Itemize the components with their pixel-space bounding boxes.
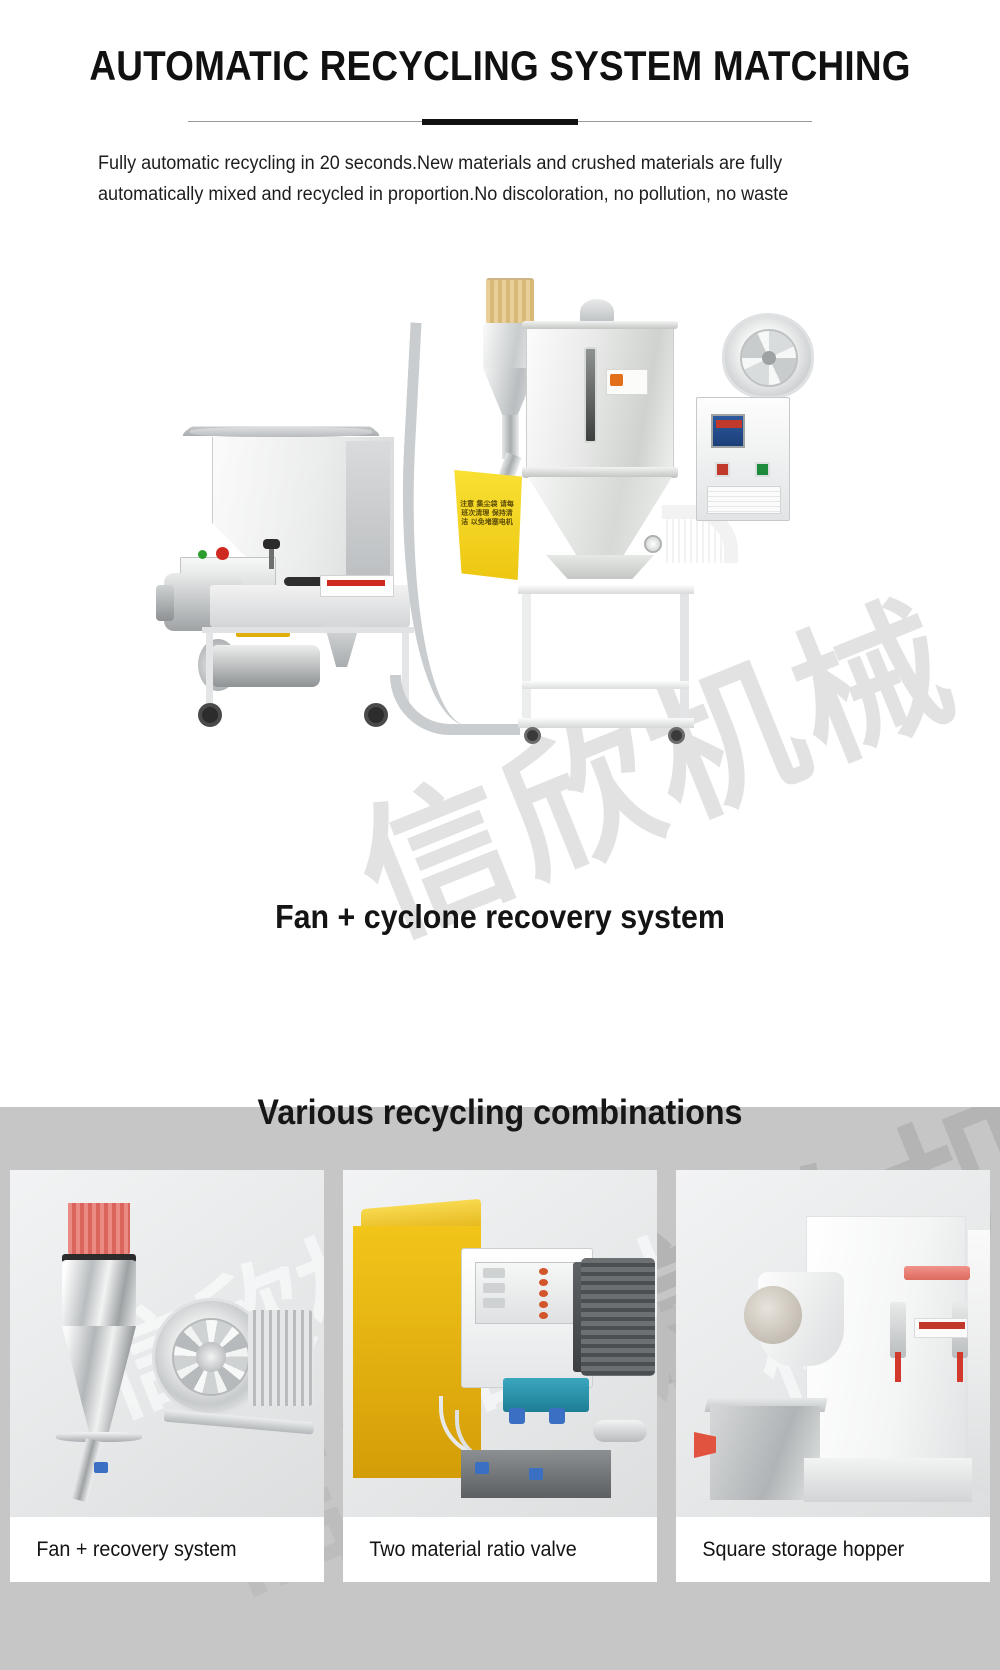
card-ratio-valve-caption: Two material ratio valve [343,1517,638,1582]
panel-red-button-icon [715,462,730,477]
valve-drive-motor [581,1258,655,1376]
led-icon [539,1312,548,1319]
key-icon [483,1298,505,1308]
green-start-button-icon [198,550,207,559]
hopper-machine-base [804,1458,972,1502]
hopper-red-handle [904,1266,970,1280]
dust-bag-warning-text: 注意 集尘袋 请每班次清理 保持清洁 以免堵塞电机 [458,500,516,527]
card-fan-recovery[interactable]: 信欣机械 Fan + recovery system [10,1170,324,1582]
title-divider [188,118,812,125]
combination-card-grid: 信欣机械 Fan + recovery system 信欣机械 [10,1170,990,1582]
crusher-stand-leg-left [206,633,213,705]
dryer-sight-glass [584,347,597,443]
hopper-end-disc [744,1286,802,1344]
cart-leg-right [680,594,689,722]
crusher-knob-icon [263,539,280,549]
blue-fitting-icon [475,1462,489,1474]
product-detail-page: AUTOMATIC RECYCLING SYSTEM MATCHING Full… [0,0,1000,1670]
card-fan-recovery-photo: 信欣机械 [10,1170,324,1517]
cart-leg-left [522,594,531,722]
blue-fitting-icon [529,1468,543,1480]
cart-mid-rail [522,681,689,689]
blue-fitting-icon [94,1462,108,1473]
hero-subtitle: Fully automatic recycling in 20 seconds.… [98,148,868,210]
card-ratio-valve[interactable]: 信欣机械 [343,1170,657,1582]
cart-bottom-rail [518,718,694,728]
crusher-rear-panel [346,441,390,581]
ring-blower-hub [196,1342,226,1372]
led-icon [539,1290,548,1297]
ring-blower-base [164,1409,314,1434]
hero-caption: Fan + cyclone recovery system [40,898,960,936]
hero-product-photo: 信欣机械 [150,255,870,825]
clamp-red-lever-icon [895,1352,901,1382]
cyclone-red-filter [68,1200,130,1255]
hopper-clamp-left [890,1302,906,1358]
blue-fitting-icon [549,1408,565,1424]
red-stop-button-icon [216,547,229,560]
pneumatic-cylinder [593,1420,647,1442]
crusher-danger-label [320,575,394,597]
cyclone-filter-cartridge [486,278,534,324]
rolling-cart-stand [518,585,694,733]
key-icon [483,1283,505,1293]
card-storage-hopper-caption: Square storage hopper [676,1517,971,1582]
card-ratio-valve-photo: 信欣机械 [343,1170,657,1517]
cart-caster-right [668,727,685,744]
led-icon [539,1301,548,1308]
key-icon [483,1268,505,1278]
divider-bar-icon [422,119,578,125]
page-title: AUTOMATIC RECYCLING SYSTEM MATCHING [60,42,940,90]
card-storage-hopper[interactable]: 信欣机械 Square storage hopper [676,1170,990,1582]
temperature-display [711,414,745,448]
crusher-caster-right [364,703,388,727]
crusher-knob-stem [269,547,274,569]
crusher-blower [210,645,320,687]
crusher-caster-left [198,703,222,727]
card-fan-recovery-caption: Fan + recovery system [10,1517,305,1582]
dryer-warning-label [606,369,648,395]
cart-top-rail [518,585,694,594]
suction-hose-lower [390,675,520,735]
panel-green-button-icon [755,462,770,477]
ring-blower-motor [248,1310,314,1406]
cart-caster-left [524,727,541,744]
dryer-pressure-gauge-icon [644,535,662,553]
cyclone-outlet-pipe [502,415,519,459]
card-storage-hopper-photo: 信欣机械 [676,1170,990,1517]
dryer-barrel [526,321,674,473]
crusher-motor-cap [156,585,174,621]
panel-spec-table [707,486,781,514]
dryer-clamp-band-bottom [522,467,678,478]
fan-hub [762,351,776,365]
hero-section: AUTOMATIC RECYCLING SYSTEM MATCHING Full… [0,0,1000,1107]
hopper-danger-label [914,1318,968,1338]
dryer-clamp-band-top [522,321,678,329]
subtitle-line-2: automatically mixed and recycled in prop… [98,179,868,210]
valve-status-leds [539,1268,548,1320]
clamp-red-lever-icon [957,1352,963,1382]
crusher-hopper-lip [190,427,372,437]
led-icon [539,1268,548,1275]
section-title: Various recycling combinations [40,1093,960,1133]
subtitle-line-1: Fully automatic recycling in 20 seconds.… [98,148,868,179]
hopper-right-panel [968,1230,990,1492]
valve-controller-keys [483,1268,505,1318]
dryer-foot-bracket [546,555,654,579]
dryer-control-panel [696,397,790,521]
crusher-stand-top [202,627,414,633]
led-icon [539,1279,548,1286]
cyclone-upper-body [62,1260,136,1328]
